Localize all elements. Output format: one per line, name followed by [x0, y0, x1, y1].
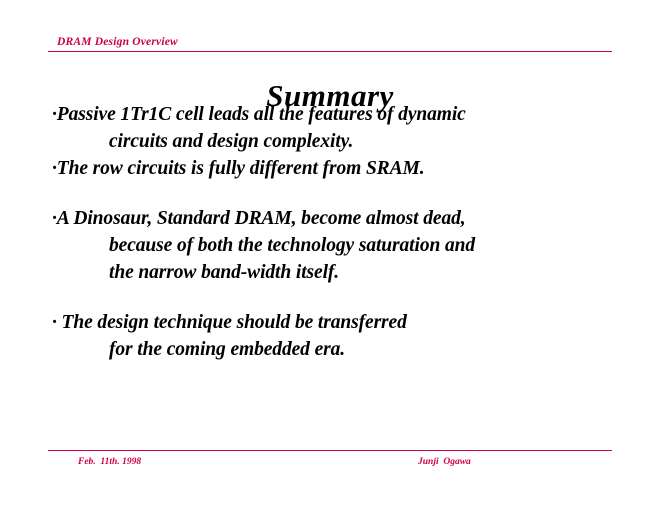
- slide-header-label: DRAM Design Overview: [57, 36, 178, 48]
- bullet-line: ·Passive 1Tr1C cell leads all the featur…: [52, 101, 632, 128]
- bullet-block: ·Passive 1Tr1C cell leads all the featur…: [52, 101, 632, 155]
- bullet-line: · The design technique should be transfe…: [52, 309, 632, 336]
- footer-author: Junji Ogawa: [418, 457, 471, 467]
- bullet-line: ·The row circuits is fully different fro…: [52, 155, 632, 182]
- bullet-line: the narrow band-width itself.: [52, 259, 632, 286]
- presentation-slide: DRAM Design Overview Summary ·Passive 1T…: [0, 0, 660, 510]
- bullet-line: ·A Dinosaur, Standard DRAM, become almos…: [52, 205, 632, 232]
- bullet-block: · The design technique should be transfe…: [52, 309, 632, 363]
- footer-divider-rule: [48, 450, 612, 451]
- footer-date: Feb. 11th. 1998: [78, 457, 141, 467]
- bullet-line: for the coming embedded era.: [52, 336, 632, 363]
- slide-body: ·Passive 1Tr1C cell leads all the featur…: [52, 101, 632, 363]
- header-divider-rule: [48, 51, 612, 52]
- bullet-line: circuits and design complexity.: [52, 128, 632, 155]
- bullet-line: because of both the technology saturatio…: [52, 232, 632, 259]
- bullet-block: ·A Dinosaur, Standard DRAM, become almos…: [52, 205, 632, 286]
- bullet-block: ·The row circuits is fully different fro…: [52, 155, 632, 182]
